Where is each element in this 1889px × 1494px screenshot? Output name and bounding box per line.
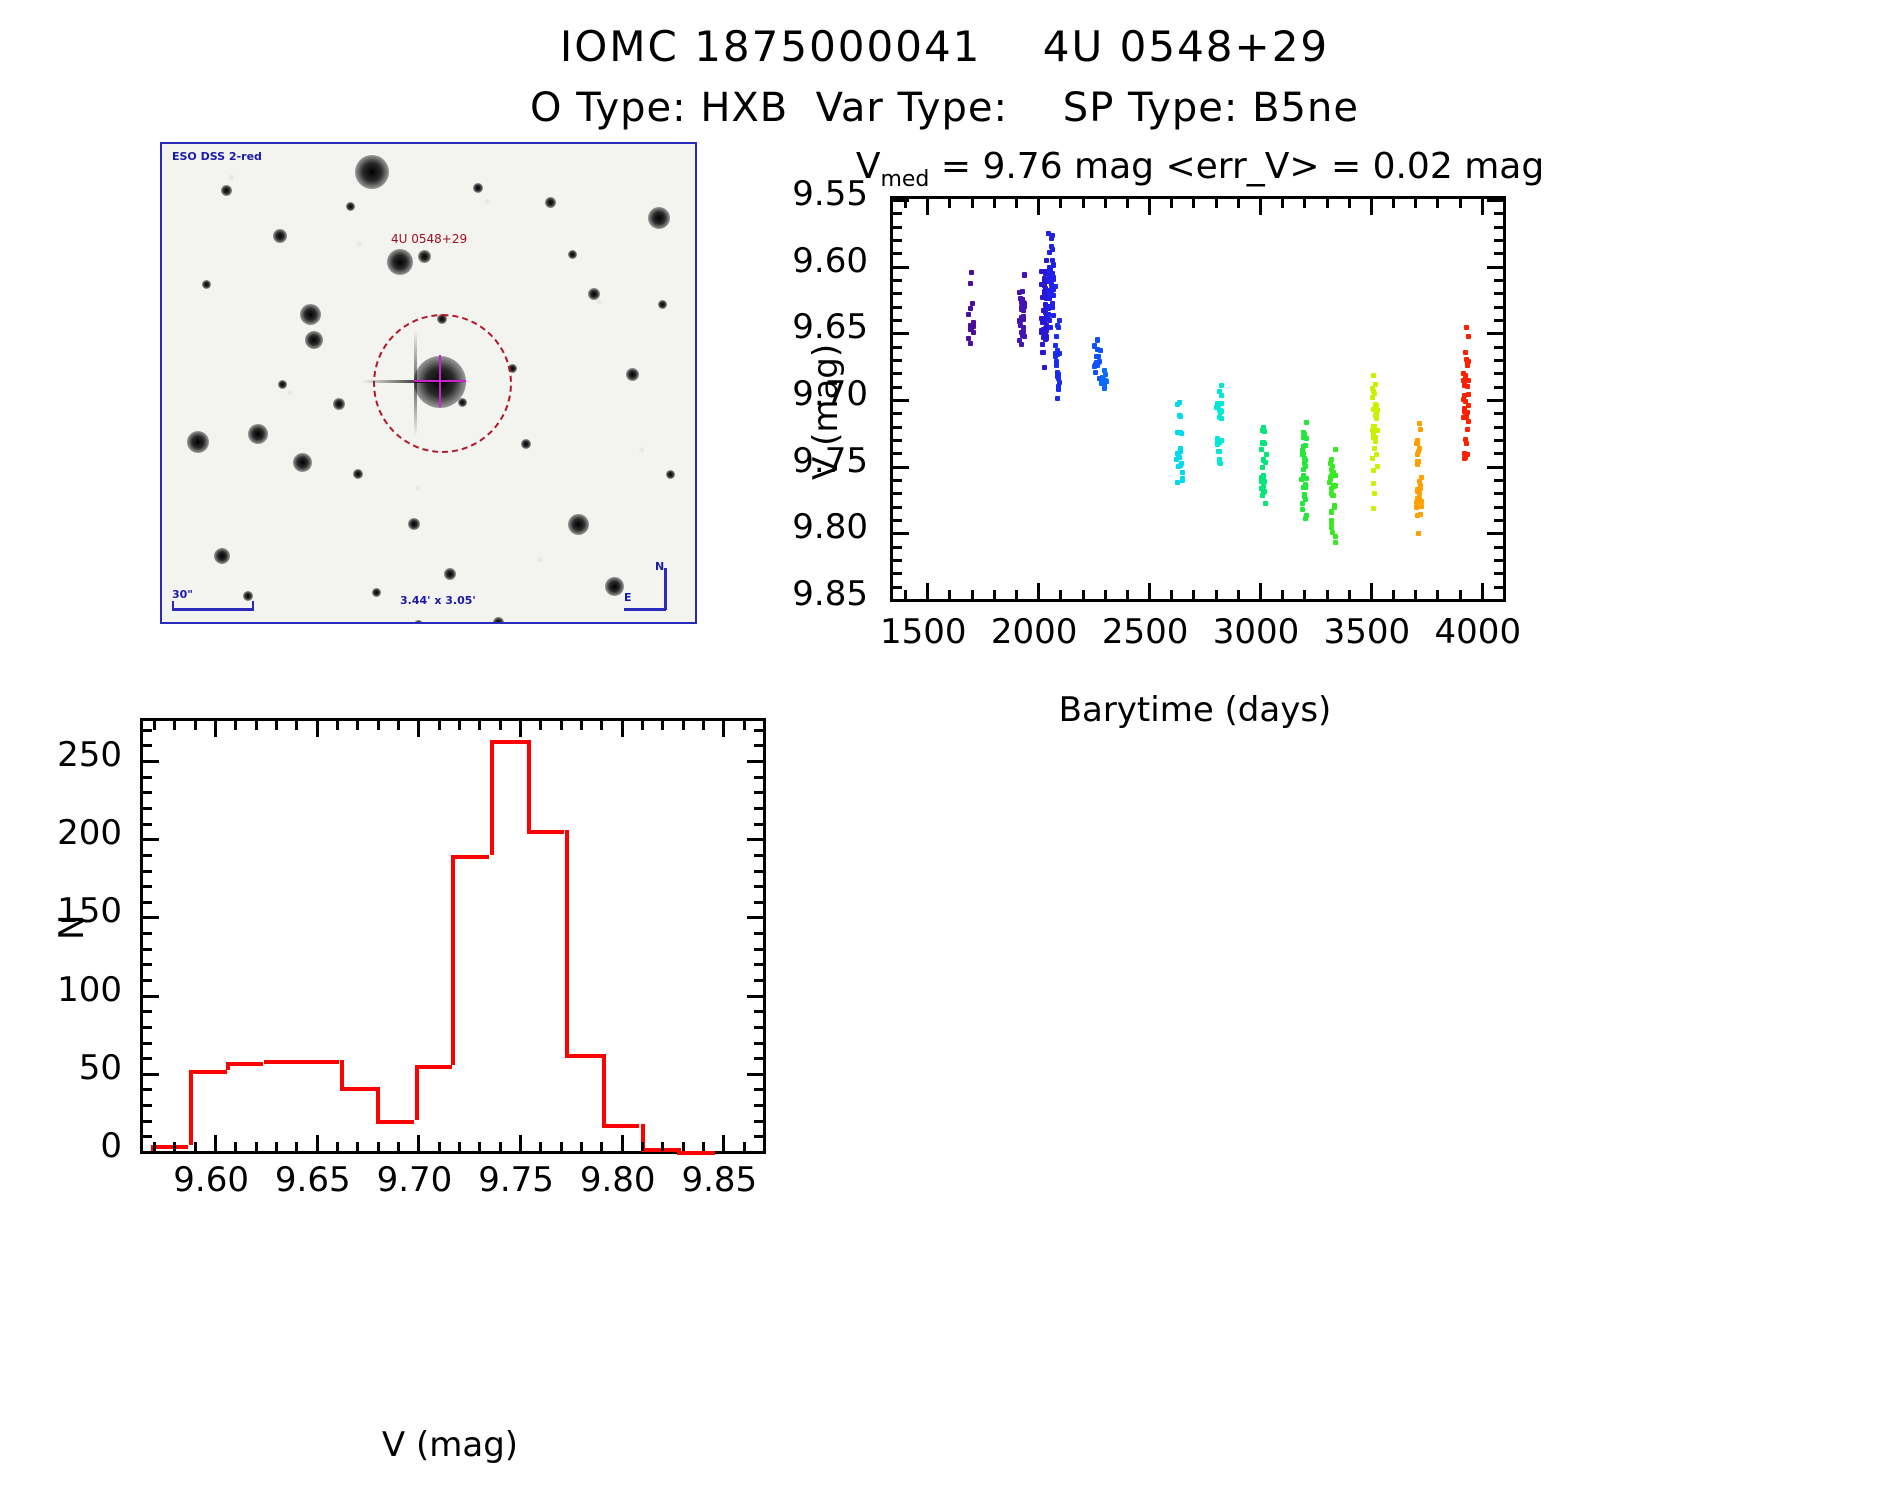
lightcurve-point (1259, 475, 1264, 480)
lightcurve-x-major-tick (1481, 583, 1484, 599)
lightcurve-y-tick-label: 9.60 (718, 241, 868, 281)
histogram-x-minor-tick (560, 1142, 563, 1151)
lightcurve-point (1175, 402, 1180, 407)
histogram-bar-top (602, 1124, 640, 1128)
histogram-x-minor-tick (641, 721, 644, 730)
lightcurve-y-minor-tick (893, 586, 902, 589)
lightcurve-point (1048, 267, 1053, 272)
histogram-x-minor-tick (600, 1142, 603, 1151)
lightcurve-point (1327, 480, 1332, 485)
histogram-y-major-tick (747, 1151, 763, 1154)
sky-star (293, 453, 312, 472)
sky-star (568, 250, 577, 259)
lightcurve-point (1218, 410, 1223, 415)
sky-scale-label: 30" (172, 588, 193, 601)
lightcurve-point (968, 281, 973, 286)
histogram-x-minor-tick (275, 721, 278, 730)
lightcurve-point (1463, 410, 1468, 415)
lightcurve-x-minor-tick (971, 590, 974, 599)
lightcurve-y-major-tick (893, 266, 909, 269)
lightcurve-y-major-tick (1487, 399, 1503, 402)
lightcurve-y-minor-tick (893, 412, 902, 415)
lightcurve-x-minor-tick (1281, 199, 1284, 208)
lightcurve-y-minor-tick (893, 372, 902, 375)
histogram-x-minor-tick (397, 721, 400, 730)
lightcurve-y-minor-tick (893, 386, 902, 389)
sky-star (300, 304, 321, 325)
lightcurve-y-major-tick (1487, 199, 1503, 202)
histogram-y-minor-tick (143, 807, 152, 810)
lightcurve-y-minor-tick (1494, 252, 1503, 255)
lightcurve-y-major-tick (893, 199, 909, 202)
histogram-x-major-tick (214, 721, 217, 737)
sky-star (333, 398, 345, 410)
lightcurve-x-minor-tick (993, 199, 996, 208)
lightcurve-plot[interactable] (890, 196, 1506, 602)
sky-star (273, 229, 287, 243)
lightcurve-point (1466, 392, 1471, 397)
sky-star (568, 514, 589, 535)
lightcurve-y-minor-tick (1494, 439, 1503, 442)
lightcurve-point (1374, 416, 1379, 421)
histogram-y-minor-tick (754, 1042, 763, 1045)
histogram-y-minor-tick (143, 948, 152, 951)
lightcurve-point (1017, 290, 1022, 295)
histogram-x-minor-tick (600, 721, 603, 730)
histogram-x-minor-tick (336, 1142, 339, 1151)
lightcurve-point (968, 341, 973, 346)
lightcurve-point (1264, 452, 1269, 457)
lightcurve-point (1102, 386, 1107, 391)
lightcurve-x-major-tick (1259, 199, 1262, 215)
histogram-x-minor-tick (295, 1142, 298, 1151)
sky-compass-north-arm (664, 568, 667, 610)
lightcurve-point (1373, 439, 1378, 444)
histogram-x-minor-tick (173, 1142, 176, 1151)
sky-scale-bar (172, 608, 254, 611)
sky-star (521, 439, 531, 449)
histogram-y-minor-tick (754, 885, 763, 888)
lightcurve-point (1414, 505, 1419, 510)
histogram-x-minor-tick (499, 721, 502, 730)
lightcurve-x-minor-tick (1192, 199, 1195, 208)
lightcurve-x-minor-tick (1348, 199, 1351, 208)
lightcurve-y-major-tick (1487, 466, 1503, 469)
lightcurve-point (1333, 483, 1338, 488)
lightcurve-y-major-tick (893, 466, 909, 469)
object-type-line: O Type: HXB Var Type: SP Type: B5ne (0, 85, 1889, 131)
sky-star (387, 249, 413, 275)
histogram-x-minor-tick (641, 1142, 644, 1151)
histogram-bar-edge (451, 855, 455, 1065)
histogram-bar-edge (189, 1070, 193, 1145)
histogram-y-axis-label: N (52, 915, 92, 940)
histogram-bar-edge (376, 1087, 380, 1120)
lightcurve-point (1372, 424, 1377, 429)
histogram-x-minor-tick (682, 721, 685, 730)
histogram-y-minor-tick (754, 1135, 763, 1138)
lightcurve-point (968, 306, 973, 311)
sky-scale-tick-left (172, 601, 174, 610)
lightcurve-y-minor-tick (1494, 226, 1503, 229)
lightcurve-point (1050, 247, 1055, 252)
lightcurve-point (1300, 451, 1305, 456)
lightcurve-point (1375, 464, 1380, 469)
lightcurve-x-tick-label: 4000 (1388, 612, 1568, 652)
lightcurve-point (1094, 354, 1099, 359)
lightcurve-point (1333, 473, 1338, 478)
histogram-x-minor-tick (377, 1142, 380, 1151)
lightcurve-y-minor-tick (1494, 559, 1503, 562)
sky-star (418, 250, 431, 263)
histogram-y-minor-tick (754, 791, 763, 794)
histogram-x-minor-tick (702, 1142, 705, 1151)
lightcurve-point (1463, 350, 1468, 355)
sky-star (666, 470, 675, 479)
histogram-y-major-tick (747, 1073, 763, 1076)
lightcurve-point (1415, 438, 1420, 443)
histogram-x-minor-tick (194, 721, 197, 730)
lightcurve-x-major-tick (1481, 199, 1484, 215)
sky-star (355, 155, 389, 189)
lightcurve-x-minor-tick (1082, 590, 1085, 599)
histogram-bar-top (264, 1060, 302, 1064)
lightcurve-y-minor-tick (893, 226, 902, 229)
lightcurve-x-major-tick (1148, 583, 1151, 599)
sky-star (408, 518, 420, 530)
lightcurve-x-minor-tick (1436, 590, 1439, 599)
lightcurve-point (1093, 370, 1098, 375)
sky-star (221, 185, 232, 196)
histogram-y-minor-tick (143, 901, 152, 904)
histogram-x-major-tick (621, 1135, 624, 1151)
lightcurve-point (1022, 272, 1027, 277)
sky-east-label: E (624, 591, 632, 604)
histogram-y-minor-tick (754, 1088, 763, 1091)
histogram-x-minor-tick (173, 721, 176, 730)
lightcurve-point (1041, 350, 1046, 355)
histogram-plot[interactable] (140, 718, 766, 1154)
lightcurve-point (1415, 489, 1420, 494)
histogram-bar-edge (527, 740, 531, 831)
histogram-x-minor-tick (661, 721, 664, 730)
lightcurve-y-minor-tick (1494, 452, 1503, 455)
sky-survey-label: ESO DSS 2-red (172, 150, 262, 163)
sky-star (372, 588, 381, 597)
histogram-y-tick-label: 0 (0, 1126, 122, 1166)
lightcurve-x-major-tick (1259, 583, 1262, 599)
lightcurve-y-minor-tick (893, 452, 902, 455)
histogram-y-minor-tick (754, 870, 763, 873)
histogram-x-minor-tick (539, 721, 542, 730)
lightcurve-x-minor-tick (1126, 199, 1129, 208)
sky-image-panel[interactable]: 4U 0548+29 ESO DSS 2-red 30" 3.44' x 3.0… (160, 142, 697, 624)
histogram-bar-top (565, 1054, 603, 1058)
lightcurve-x-axis-label: Barytime (days) (890, 690, 1500, 730)
histogram-x-minor-tick (438, 1142, 441, 1151)
lightcurve-point (1301, 435, 1306, 440)
source-aperture-circle (373, 314, 512, 453)
lightcurve-point (1463, 375, 1468, 380)
histogram-bar-top (527, 830, 565, 834)
lightcurve-y-minor-tick (1494, 346, 1503, 349)
lightcurve-y-minor-tick (893, 479, 902, 482)
histogram-y-tick-label: 250 (0, 735, 122, 775)
lightcurve-point (1329, 491, 1334, 496)
histogram-x-minor-tick (580, 721, 583, 730)
lightcurve-point (1260, 441, 1265, 446)
lightcurve-y-minor-tick (893, 559, 902, 562)
lightcurve-point (1462, 393, 1467, 398)
lightcurve-point (1464, 325, 1469, 330)
lightcurve-point (1048, 325, 1053, 330)
lightcurve-point (1372, 491, 1377, 496)
histogram-x-minor-tick (194, 1142, 197, 1151)
histogram-x-minor-tick (255, 1142, 258, 1151)
lightcurve-x-minor-tick (1303, 590, 1306, 599)
lightcurve-point (1050, 305, 1055, 310)
lightcurve-x-minor-tick (1104, 590, 1107, 599)
histogram-bar-edge (340, 1060, 344, 1087)
lightcurve-point (1416, 531, 1421, 536)
histogram-y-major-tick (143, 760, 159, 763)
histogram-bar-edge (415, 1065, 419, 1120)
lightcurve-point (1217, 415, 1222, 420)
lightcurve-point (1099, 380, 1104, 385)
histogram-y-minor-tick (143, 885, 152, 888)
lightcurve-y-minor-tick (893, 319, 902, 322)
histogram-x-major-tick (519, 1135, 522, 1151)
histogram-bar-top (151, 1145, 189, 1149)
lightcurve-y-minor-tick (893, 292, 902, 295)
lightcurve-x-minor-tick (1059, 199, 1062, 208)
histogram-x-minor-tick (743, 721, 746, 730)
lightcurve-y-major-tick (893, 532, 909, 535)
lightcurve-x-minor-tick (1414, 590, 1417, 599)
lightcurve-point (1054, 359, 1059, 364)
lightcurve-point (1046, 317, 1051, 322)
lightcurve-point (1055, 352, 1060, 357)
lightcurve-point (1044, 258, 1049, 263)
histogram-bar-top (641, 1148, 679, 1152)
lightcurve-point (1371, 389, 1376, 394)
sky-fov-label: 3.44' x 3.05' (400, 594, 476, 607)
histogram-y-minor-tick (754, 1026, 763, 1029)
histogram-bar-edge (264, 1060, 268, 1062)
histogram-y-tick-label: 200 (0, 813, 122, 853)
lightcurve-point (1330, 530, 1335, 535)
lightcurve-y-minor-tick (1494, 292, 1503, 295)
sky-star (658, 300, 667, 309)
lightcurve-y-major-tick (1487, 332, 1503, 335)
sky-star (493, 617, 504, 625)
histogram-bar-edge (490, 740, 494, 856)
lightcurve-point (1104, 379, 1109, 384)
lightcurve-point (1465, 452, 1470, 457)
lightcurve-y-minor-tick (1494, 572, 1503, 575)
lightcurve-point (1097, 359, 1102, 364)
histogram-bar-top (415, 1065, 453, 1069)
lightcurve-y-major-tick (893, 399, 909, 402)
lightcurve-point (1418, 427, 1423, 432)
histogram-bar-top (189, 1070, 227, 1074)
sky-star (545, 197, 556, 208)
histogram-y-minor-tick (754, 932, 763, 935)
figure-header: IOMC 1875000041 4U 0548+29 O Type: HXB V… (0, 0, 1889, 131)
lightcurve-point (1046, 306, 1051, 311)
lightcurve-y-tick-label: 9.55 (718, 174, 868, 214)
lightcurve-point (1048, 292, 1053, 297)
histogram-y-minor-tick (143, 1135, 152, 1138)
lightcurve-x-minor-tick (1215, 590, 1218, 599)
lightcurve-x-major-tick (1037, 199, 1040, 215)
histogram-x-tick-label: 9.85 (629, 1160, 809, 1200)
lightcurve-point (1218, 461, 1223, 466)
histogram-bar-edge (565, 830, 569, 1054)
histogram-y-minor-tick (754, 1120, 763, 1123)
lightcurve-point (1051, 313, 1056, 318)
lightcurve-x-minor-tick (1414, 199, 1417, 208)
lightcurve-point (1463, 437, 1468, 442)
histogram-y-minor-tick (143, 1120, 152, 1123)
histogram-y-minor-tick (143, 729, 152, 732)
lightcurve-y-tick-label: 9.85 (718, 574, 868, 614)
lightcurve-x-minor-tick (1237, 590, 1240, 599)
lightcurve-point (1046, 312, 1051, 317)
lightcurve-x-minor-tick (971, 199, 974, 208)
lightcurve-x-minor-tick (1104, 199, 1107, 208)
histogram-y-minor-tick (143, 1026, 152, 1029)
sky-star (605, 577, 624, 596)
sky-star (243, 591, 253, 601)
lightcurve-point (1374, 452, 1379, 457)
lightcurve-point (968, 323, 973, 328)
lightcurve-x-minor-tick (1392, 590, 1395, 599)
lightcurve-point (966, 312, 971, 317)
lightcurve-point (1260, 465, 1265, 470)
lightcurve-point (1333, 540, 1338, 545)
lightcurve-point (1417, 446, 1422, 451)
histogram-x-minor-tick (661, 1142, 664, 1151)
lightcurve-x-minor-tick (1015, 199, 1018, 208)
histogram-y-major-tick (747, 760, 763, 763)
lightcurve-point (1370, 456, 1375, 461)
histogram-y-major-tick (143, 1151, 159, 1154)
histogram-x-major-tick (316, 721, 319, 737)
lightcurve-point (1259, 447, 1264, 452)
histogram-bar-top (451, 855, 489, 859)
lightcurve-y-minor-tick (893, 306, 902, 309)
lightcurve-y-minor-tick (1494, 319, 1503, 322)
sky-star (248, 424, 268, 444)
lightcurve-point (1464, 441, 1469, 446)
lightcurve-point (1329, 525, 1334, 530)
histogram-bar-top (340, 1087, 378, 1091)
histogram-y-minor-tick (143, 979, 152, 982)
lightcurve-point (1215, 401, 1220, 406)
sky-source-label: 4U 0548+29 (391, 232, 467, 246)
histogram-y-minor-tick (143, 823, 152, 826)
lightcurve-point (1056, 376, 1061, 381)
histogram-y-minor-tick (143, 1042, 152, 1045)
histogram-x-minor-tick (458, 721, 461, 730)
histogram-x-minor-tick (255, 721, 258, 730)
lightcurve-x-minor-tick (1303, 199, 1306, 208)
histogram-x-minor-tick (438, 721, 441, 730)
histogram-y-major-tick (143, 916, 159, 919)
lightcurve-point (1329, 518, 1334, 523)
lightcurve-point (1300, 501, 1305, 506)
lightcurve-point (1019, 330, 1024, 335)
histogram-y-minor-tick (754, 776, 763, 779)
lightcurve-point (1095, 338, 1100, 343)
sky-star (346, 202, 355, 211)
lightcurve-stats-subscript: med (880, 167, 929, 192)
histogram-x-minor-tick (153, 721, 156, 730)
histogram-x-minor-tick (458, 1142, 461, 1151)
lightcurve-point (1465, 361, 1470, 366)
lightcurve-x-minor-tick (1215, 199, 1218, 208)
histogram-x-minor-tick (356, 721, 359, 730)
lightcurve-point (1056, 325, 1061, 330)
histogram-y-minor-tick (143, 776, 152, 779)
lightcurve-y-major-tick (1487, 599, 1503, 602)
lightcurve-x-minor-tick (1348, 590, 1351, 599)
lightcurve-x-minor-tick (1170, 199, 1173, 208)
histogram-y-minor-tick (143, 854, 152, 857)
histogram-y-minor-tick (143, 870, 152, 873)
lightcurve-point (1371, 373, 1376, 378)
lightcurve-y-minor-tick (893, 239, 902, 242)
lightcurve-point (1217, 457, 1222, 462)
lightcurve-point (1418, 500, 1423, 505)
sky-north-label: N (655, 560, 664, 573)
lightcurve-y-minor-tick (893, 212, 902, 215)
lightcurve-point (1465, 384, 1470, 389)
histogram-y-minor-tick (754, 729, 763, 732)
lightcurve-x-minor-tick (1126, 590, 1129, 599)
histogram-y-minor-tick (754, 744, 763, 747)
histogram-y-major-tick (747, 916, 763, 919)
lightcurve-y-axis-label: V (mag) (806, 344, 846, 480)
lightcurve-y-minor-tick (1494, 586, 1503, 589)
lightcurve-x-minor-tick (1459, 199, 1462, 208)
histogram-x-minor-tick (580, 1142, 583, 1151)
histogram-y-minor-tick (143, 744, 152, 747)
histogram-y-minor-tick (143, 932, 152, 935)
lightcurve-point (1371, 407, 1376, 412)
lightcurve-x-minor-tick (1459, 590, 1462, 599)
lightcurve-point (1301, 467, 1306, 472)
lightcurve-point (1056, 384, 1061, 389)
histogram-y-minor-tick (754, 807, 763, 810)
lightcurve-point (1219, 393, 1224, 398)
histogram-y-minor-tick (143, 1010, 152, 1013)
histogram-x-major-tick (722, 1135, 725, 1151)
lightcurve-y-minor-tick (1494, 372, 1503, 375)
lightcurve-y-minor-tick (893, 279, 902, 282)
lightcurve-x-minor-tick (904, 590, 907, 599)
histogram-y-minor-tick (754, 823, 763, 826)
histogram-x-minor-tick (743, 1142, 746, 1151)
lightcurve-point (1219, 383, 1224, 388)
lightcurve-x-major-tick (926, 583, 929, 599)
lightcurve-point (1176, 454, 1181, 459)
lightcurve-point (1261, 484, 1266, 489)
lightcurve-y-minor-tick (1494, 306, 1503, 309)
histogram-x-minor-tick (682, 1142, 685, 1151)
lightcurve-y-minor-tick (1494, 239, 1503, 242)
